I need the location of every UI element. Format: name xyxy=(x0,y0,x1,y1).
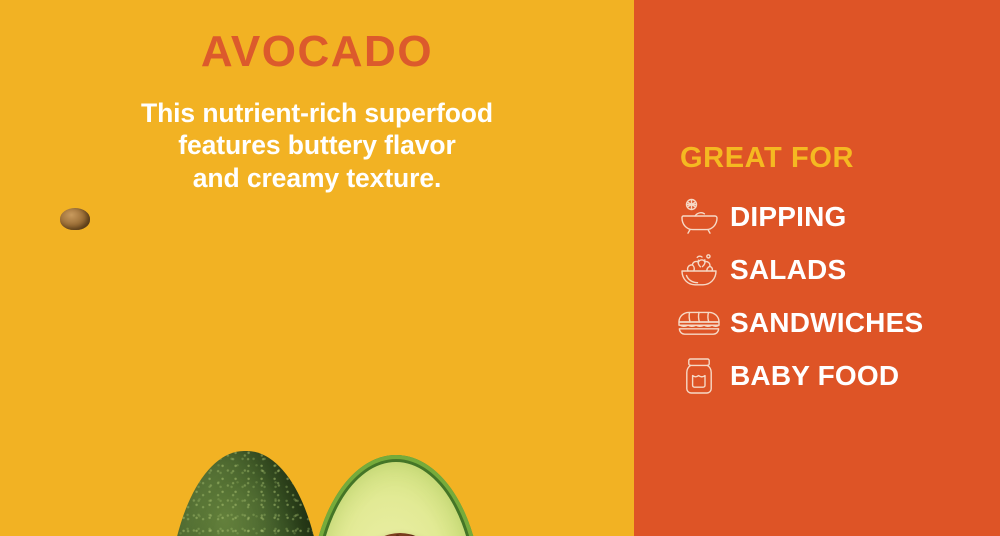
use-row-sandwiches: SANDWICHES xyxy=(668,296,1000,349)
avocado-flesh xyxy=(310,455,482,536)
use-label-dipping: DIPPING xyxy=(730,201,847,233)
use-row-dipping: DIPPING xyxy=(668,190,1000,243)
avocado-skin-texture xyxy=(168,451,323,536)
great-for-heading: GREAT FOR xyxy=(680,142,854,175)
whole-avocado xyxy=(168,451,323,536)
avocado-photo xyxy=(0,215,634,515)
halved-avocado xyxy=(310,455,482,536)
avocado-infographic: AVOCADO This nutrient-rich superfood fea… xyxy=(0,0,1000,536)
left-panel: AVOCADO This nutrient-rich superfood fea… xyxy=(0,0,634,536)
subtitle-line-1: This nutrient-rich superfood xyxy=(0,97,634,129)
baby-food-jar-icon xyxy=(668,354,730,398)
uses-list: DIPPING SALADS xyxy=(668,190,1000,402)
dip-bowl-icon xyxy=(668,195,730,239)
subtitle: This nutrient-rich superfood features bu… xyxy=(0,97,634,194)
right-panel: GREAT FOR DIPPING xyxy=(634,0,1000,536)
subtitle-line-3: and creamy texture. xyxy=(0,162,634,194)
page-title: AVOCADO xyxy=(0,29,634,75)
use-label-salads: SALADS xyxy=(730,254,846,286)
sub-sandwich-icon xyxy=(668,301,730,345)
use-label-baby-food: BABY FOOD xyxy=(730,360,899,392)
use-row-salads: SALADS xyxy=(668,243,1000,296)
avocado-stem xyxy=(60,208,90,230)
subtitle-line-2: features buttery flavor xyxy=(0,129,634,161)
use-label-sandwiches: SANDWICHES xyxy=(730,307,923,339)
use-row-baby-food: BABY FOOD xyxy=(668,349,1000,402)
salad-bowl-icon xyxy=(668,248,730,292)
